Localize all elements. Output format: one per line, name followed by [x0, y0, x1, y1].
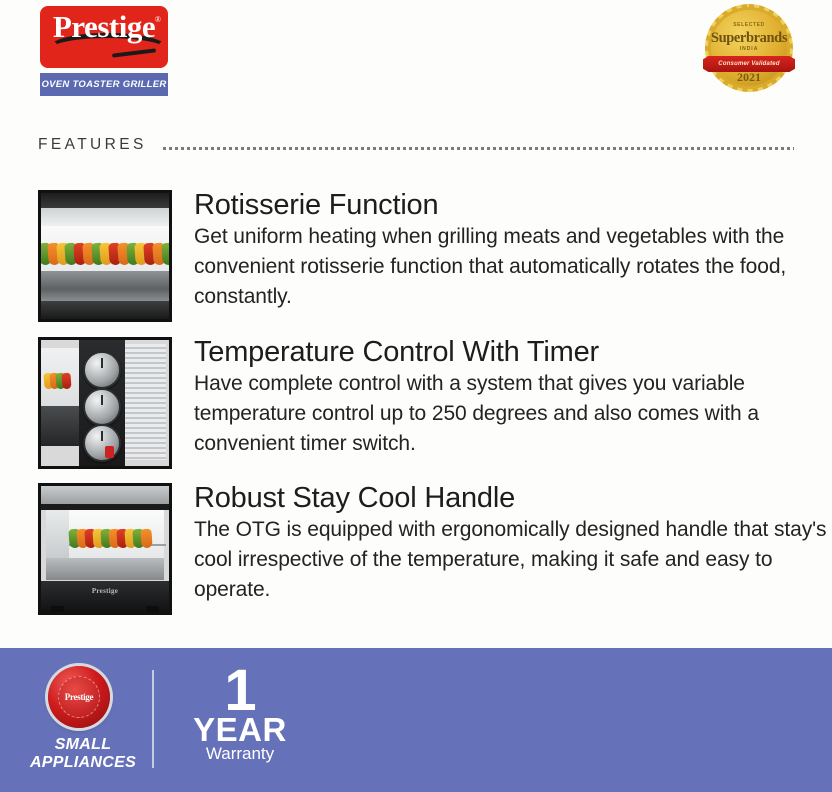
brand-name: Prestige: [53, 11, 155, 42]
brand-logo-block: Prestige ® OVEN TOASTER GRILLER: [40, 6, 170, 96]
small-appliances-line2: APPLIANCES: [30, 754, 136, 771]
small-appliances-line1: SMALL: [55, 736, 112, 753]
page-footer: Prestige SMALL APPLIANCES 1 YEAR Warrant…: [0, 648, 832, 792]
prestige-logo: Prestige ®: [40, 6, 168, 68]
feature-row: Temperature Control With Timer Have comp…: [38, 337, 828, 469]
feature-description: Get uniform heating when grilling meats …: [194, 222, 828, 311]
power-indicator-icon: [105, 446, 114, 458]
badge-ribbon-text: Consumer Validated: [718, 61, 779, 67]
registered-trademark-icon: ®: [155, 15, 161, 24]
feature-title: Robust Stay Cool Handle: [194, 483, 828, 513]
section-title: FEATURES: [38, 136, 147, 154]
heading-dotted-rule: [163, 147, 794, 150]
brand-tagline: OVEN TOASTER GRILLER: [41, 79, 166, 90]
warranty-unit: YEAR: [170, 713, 310, 746]
warranty-number: 1: [170, 666, 310, 715]
badge-selected-text: SELECTED: [701, 22, 797, 28]
small-appliances-label: SMALL APPLIANCES: [8, 736, 158, 773]
feature-title: Rotisserie Function: [194, 190, 828, 220]
feature-row: Rotisserie Function Get uniform heating …: [38, 190, 828, 322]
function-knob-icon: [83, 388, 121, 426]
warranty-label: Warranty: [170, 745, 310, 764]
rotisserie-skewer-icon: [69, 529, 169, 548]
feature-description: Have complete control with a system that…: [194, 369, 828, 458]
control-panel: [79, 340, 125, 466]
badge-country: INDIA: [701, 46, 797, 52]
rotisserie-vegetables-thumbnail: [38, 190, 172, 322]
prestige-seal-icon: Prestige: [48, 666, 110, 728]
timer-knob-icon: [83, 424, 121, 462]
stay-cool-handle-oven-thumbnail: Prestige: [38, 483, 172, 615]
footer-divider: [152, 670, 154, 768]
feature-description: The OTG is equipped with ergonomically d…: [194, 515, 828, 604]
seal-inner-disc: Prestige: [58, 676, 100, 718]
feature-row: Prestige Robust Stay Cool Handle The OTG…: [38, 483, 828, 615]
warranty-block: 1 YEAR Warranty: [170, 666, 310, 764]
rotisserie-skewer-icon: [39, 243, 172, 265]
temperature-knobs-thumbnail: [38, 337, 172, 469]
badge-title: Superbrands: [701, 30, 797, 47]
oven-brand-mark: Prestige: [41, 587, 169, 595]
brand-tagline-band: OVEN TOASTER GRILLER: [40, 73, 168, 96]
temperature-knob-icon: [83, 351, 121, 389]
features-section-heading: FEATURES: [38, 131, 794, 159]
seal-brand-text: Prestige: [65, 692, 93, 702]
superbrands-badge: SELECTED Superbrands INDIA Consumer Vali…: [701, 8, 797, 90]
feature-title: Temperature Control With Timer: [194, 337, 828, 367]
badge-year: 2021: [701, 70, 797, 85]
page-header: Prestige ® OVEN TOASTER GRILLER SELECTED…: [0, 0, 832, 118]
